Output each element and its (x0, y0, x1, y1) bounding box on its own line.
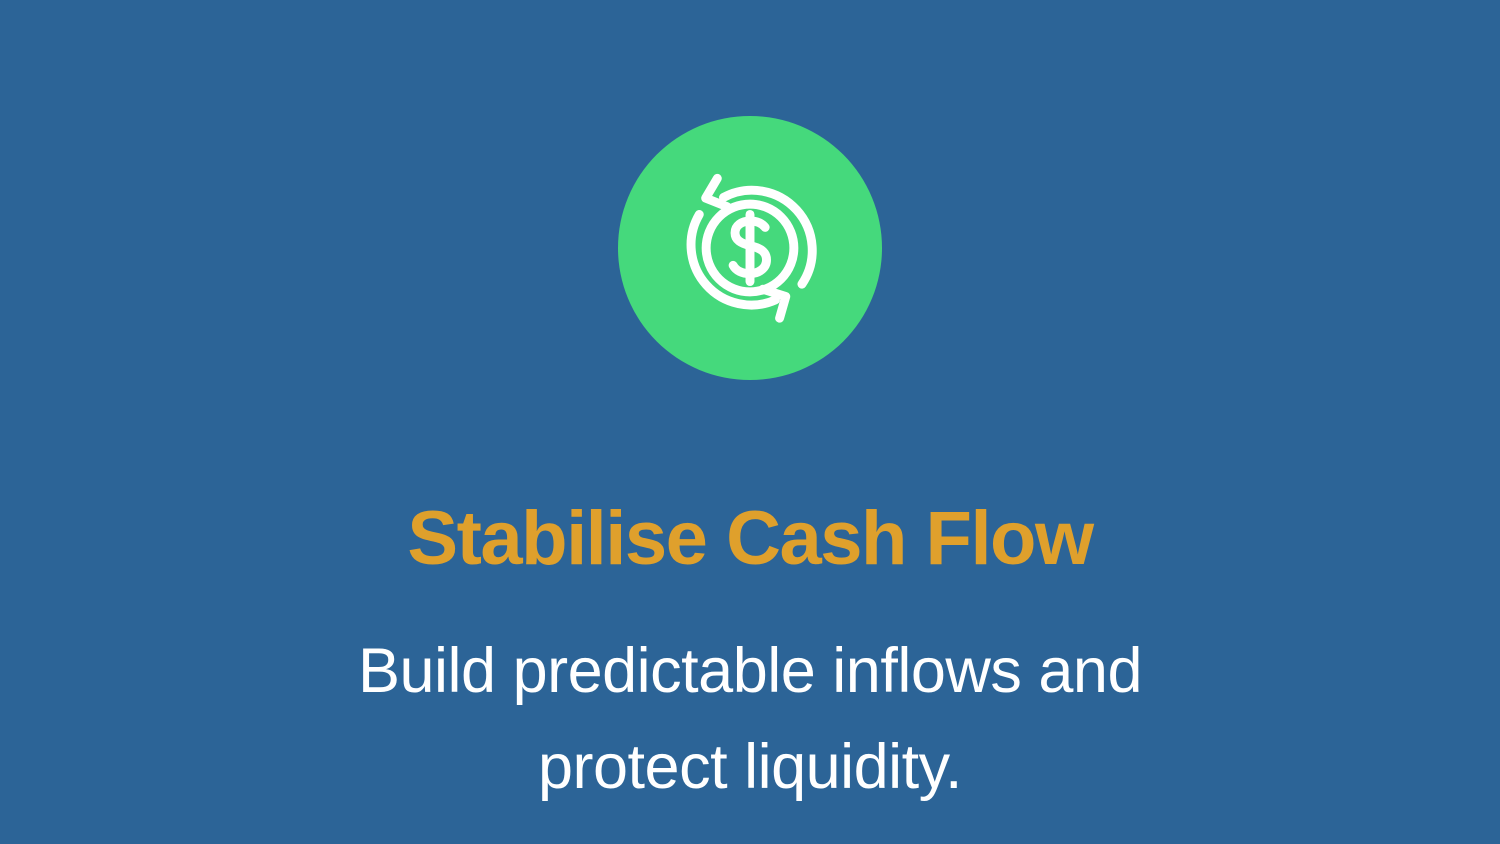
cash-flow-icon-badge (618, 116, 882, 380)
page-title: Stabilise Cash Flow (0, 491, 1500, 587)
subtitle-line-2: protect liquidity. (250, 719, 1250, 815)
cash-flow-cycle-icon (664, 162, 836, 334)
slide-canvas: Stabilise Cash Flow Build predictable in… (0, 0, 1500, 844)
page-subtitle: Build predictable inflows and protect li… (250, 623, 1250, 815)
subtitle-line-1: Build predictable inflows and (250, 623, 1250, 719)
